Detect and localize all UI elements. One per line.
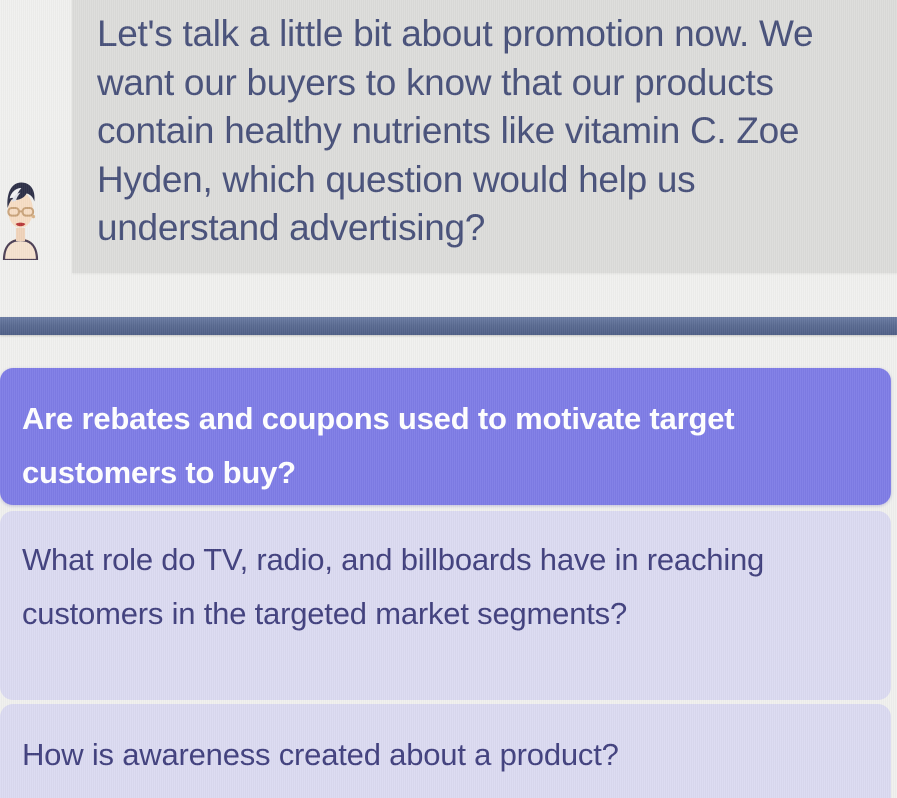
chat-message-row: Let's talk a little bit about promotion … xyxy=(0,0,897,300)
answer-option-3[interactable]: How is awareness created about a product… xyxy=(0,704,891,798)
answer-option-1-label: Are rebates and coupons used to motivate… xyxy=(22,368,869,500)
answer-option-3-label: How is awareness created about a product… xyxy=(22,704,619,782)
answer-option-2[interactable]: What role do TV, radio, and billboards h… xyxy=(0,511,891,700)
answer-option-1[interactable]: Are rebates and coupons used to motivate… xyxy=(0,368,891,505)
answer-option-2-label: What role do TV, radio, and billboards h… xyxy=(22,511,869,641)
message-bubble: Let's talk a little bit about promotion … xyxy=(72,0,897,273)
section-divider xyxy=(0,317,897,335)
avatar-woman-glasses-icon xyxy=(2,168,39,260)
message-text: Let's talk a little bit about promotion … xyxy=(97,10,872,253)
